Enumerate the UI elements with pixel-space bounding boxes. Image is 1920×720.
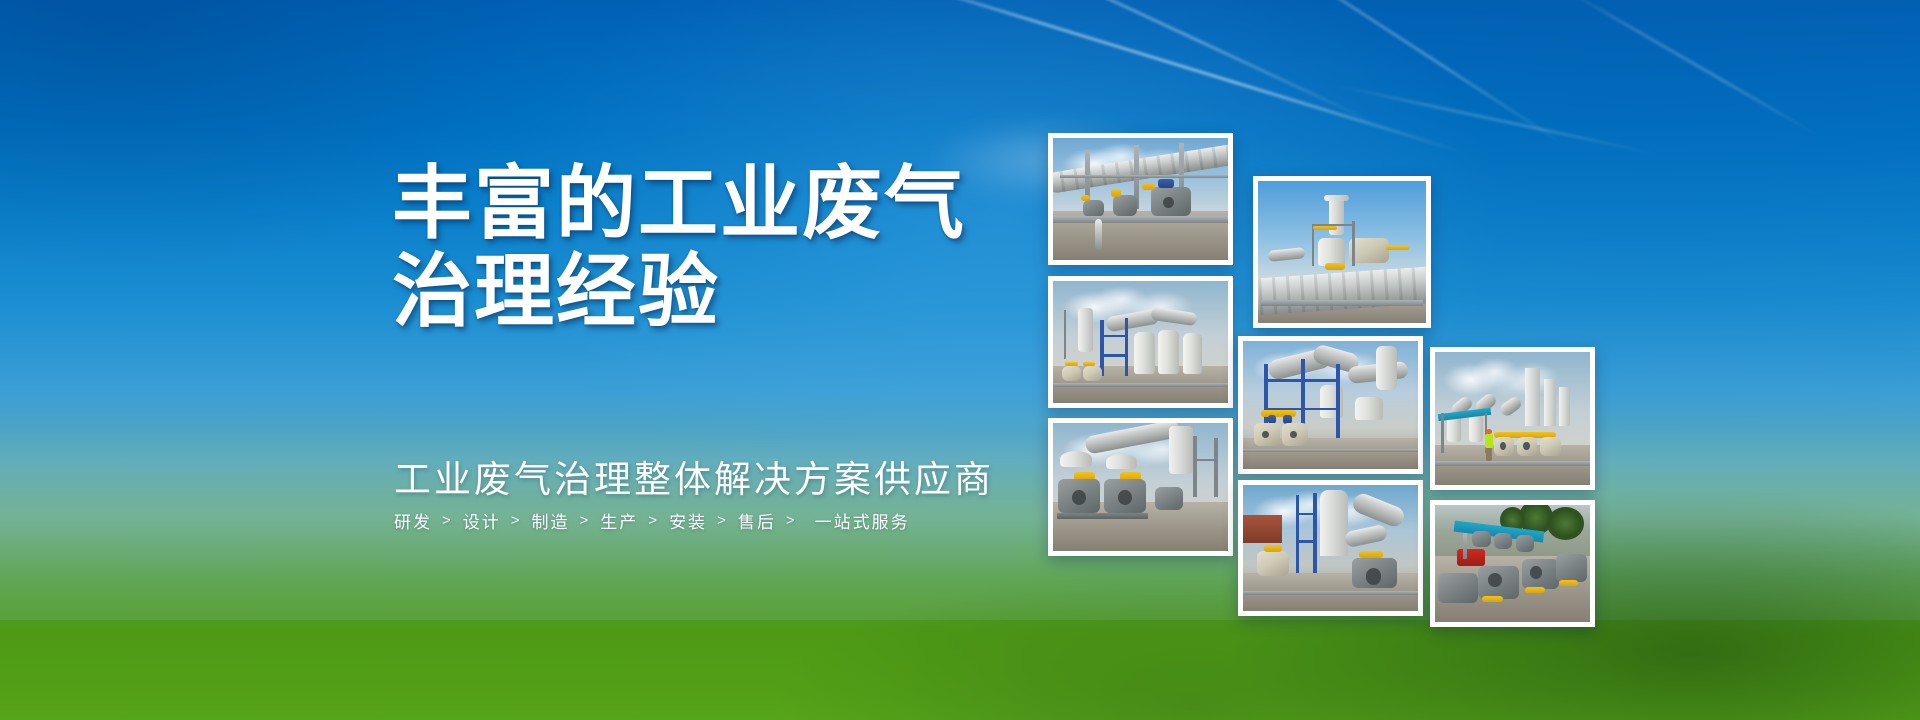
photo-fan-workshop [1238, 480, 1423, 616]
photo-centrifugal-fans [1048, 418, 1233, 556]
photo-scrubber-towers [1048, 276, 1233, 408]
photo-blower-line [1238, 336, 1423, 474]
photo-collage [0, 0, 1920, 720]
photo-plant-operator [1430, 347, 1595, 490]
hero-banner: 丰富的工业废气 治理经验 工业废气治理整体解决方案供应商 研发 > 设计 > 制… [0, 0, 1920, 720]
photo-fan-yard [1430, 500, 1595, 627]
photo-rto-incinerator [1253, 176, 1431, 328]
photo-ducting-rooftop [1048, 133, 1233, 265]
